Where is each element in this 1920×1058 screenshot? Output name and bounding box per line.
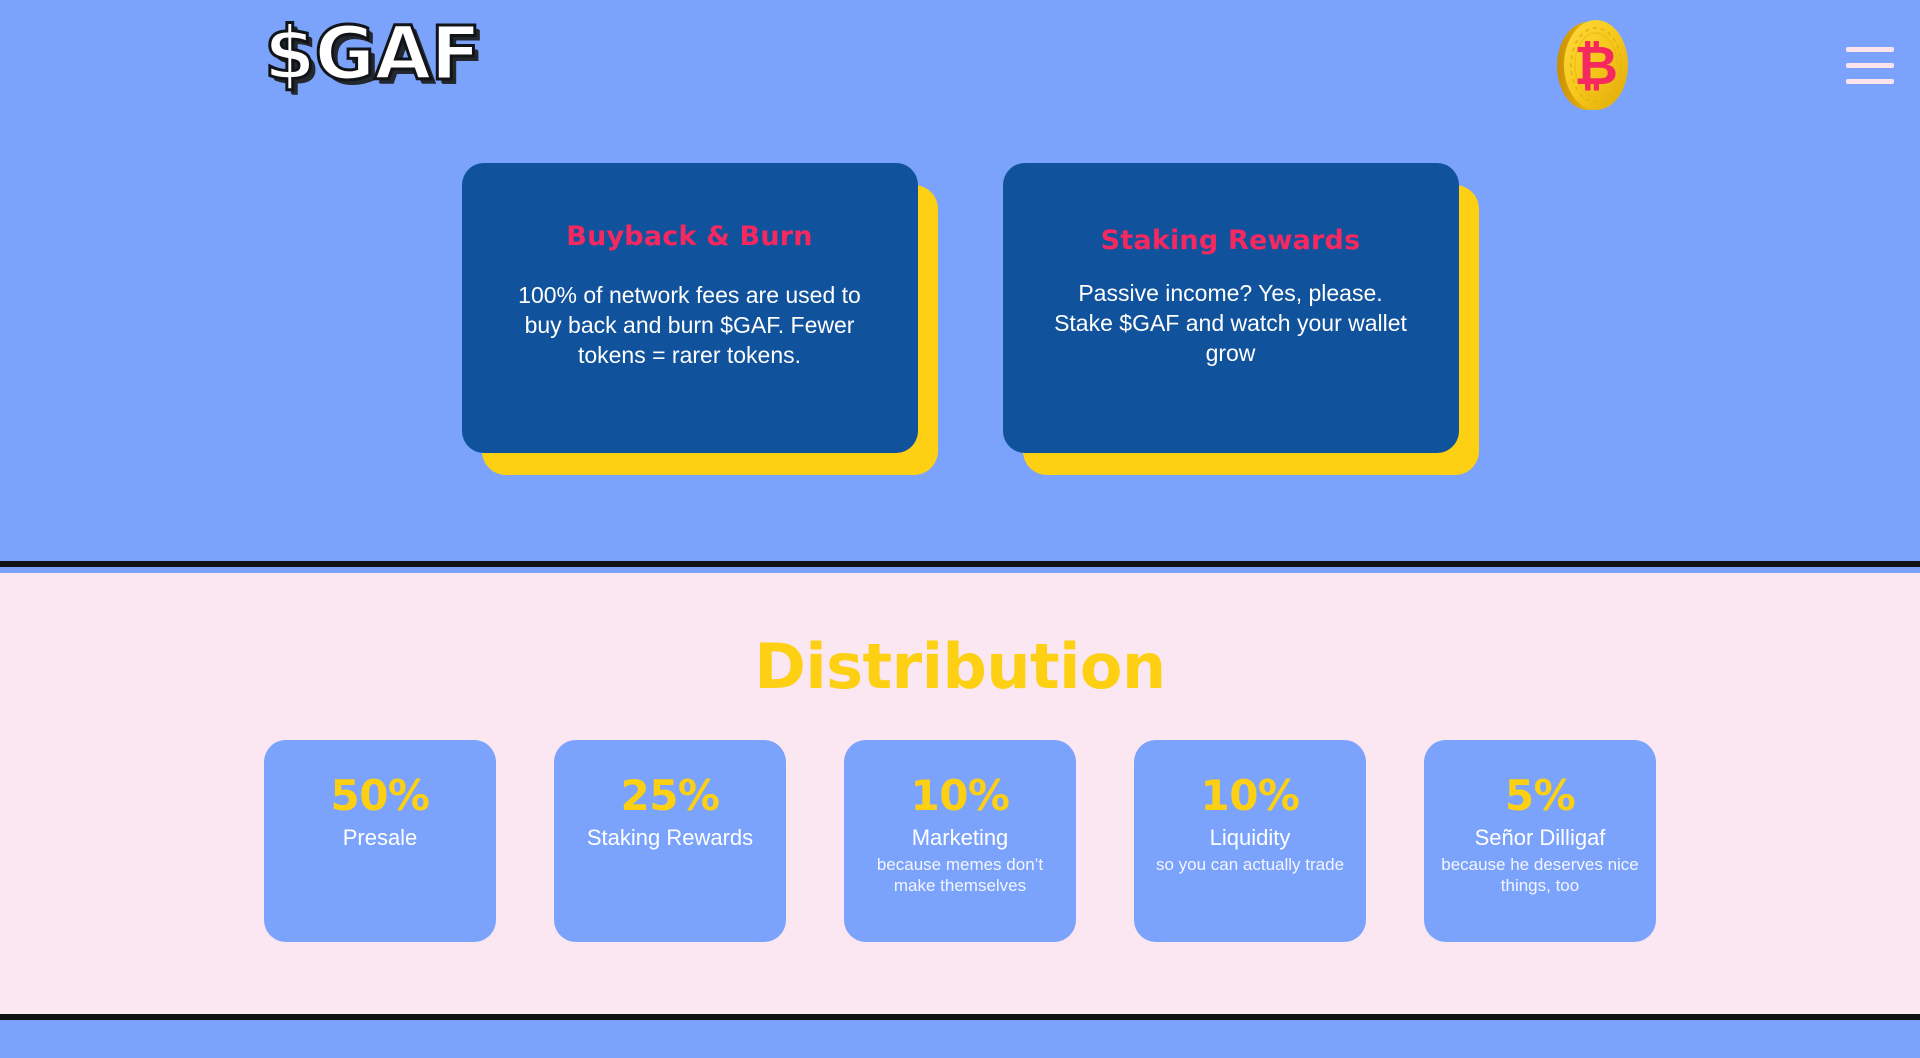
distribution-subtext: because memes don’t make themselves (856, 854, 1064, 896)
feature-card-list: Buyback & Burn 100% of network fees are … (0, 163, 1920, 453)
distribution-section: Distribution 50% Presale 25% Staking Rew… (0, 573, 1920, 1020)
distribution-card-liquidity[interactable]: 10% Liquidity so you can actually trade (1134, 740, 1366, 942)
distribution-card-list: 50% Presale 25% Staking Rewards 10% Mark… (0, 740, 1920, 942)
hamburger-line-2 (1846, 63, 1894, 68)
site-logo[interactable]: $GAF (264, 12, 480, 96)
feature-card-title: Buyback & Burn (566, 221, 812, 253)
distribution-label: Staking Rewards (587, 825, 753, 851)
svg-text:₿: ₿ (1574, 34, 1618, 97)
distribution-percent: 25% (620, 774, 719, 818)
feature-card-body: 100% of network fees are used to buy bac… (510, 280, 870, 370)
footer-section (0, 1026, 1920, 1058)
distribution-subtext: because he deserves nice things, too (1436, 854, 1644, 896)
feature-card-body: Passive income? Yes, please. Stake $GAF … (1051, 278, 1411, 368)
distribution-percent: 5% (1505, 774, 1575, 818)
feature-card-title: Staking Rewards (1101, 225, 1361, 257)
feature-card-buyback-burn[interactable]: Buyback & Burn 100% of network fees are … (462, 163, 918, 453)
distribution-label: Liquidity (1210, 825, 1291, 851)
hamburger-line-3 (1846, 79, 1894, 84)
distribution-card-marketing[interactable]: 10% Marketing because memes don’t make t… (844, 740, 1076, 942)
site-header: $GAF (0, 0, 1920, 128)
distribution-heading: Distribution (0, 631, 1920, 703)
features-section: $GAF (0, 0, 1920, 567)
feature-card-staking-rewards[interactable]: Staking Rewards Passive income? Yes, ple… (1003, 163, 1459, 453)
hamburger-line-1 (1846, 47, 1894, 52)
page-root: $GAF (0, 0, 1920, 1058)
distribution-subtext: so you can actually trade (1156, 854, 1344, 875)
hamburger-menu-icon[interactable] (1846, 44, 1908, 86)
distribution-label: Presale (343, 825, 418, 851)
distribution-card-staking-rewards[interactable]: 25% Staking Rewards (554, 740, 786, 942)
gaf-coin-icon: ₿ (1542, 12, 1648, 118)
feature-card-wrapper: Staking Rewards Passive income? Yes, ple… (1003, 163, 1459, 453)
distribution-card-senor-dilligaf[interactable]: 5% Señor Dilligaf because he deserves ni… (1424, 740, 1656, 942)
distribution-card-presale[interactable]: 50% Presale (264, 740, 496, 942)
distribution-percent: 50% (330, 774, 429, 818)
feature-card-wrapper: Buyback & Burn 100% of network fees are … (462, 163, 918, 453)
distribution-label: Marketing (912, 825, 1009, 851)
coin-svg: ₿ (1542, 12, 1648, 118)
distribution-percent: 10% (1200, 774, 1299, 818)
distribution-percent: 10% (910, 774, 1009, 818)
distribution-label: Señor Dilligaf (1475, 825, 1606, 851)
